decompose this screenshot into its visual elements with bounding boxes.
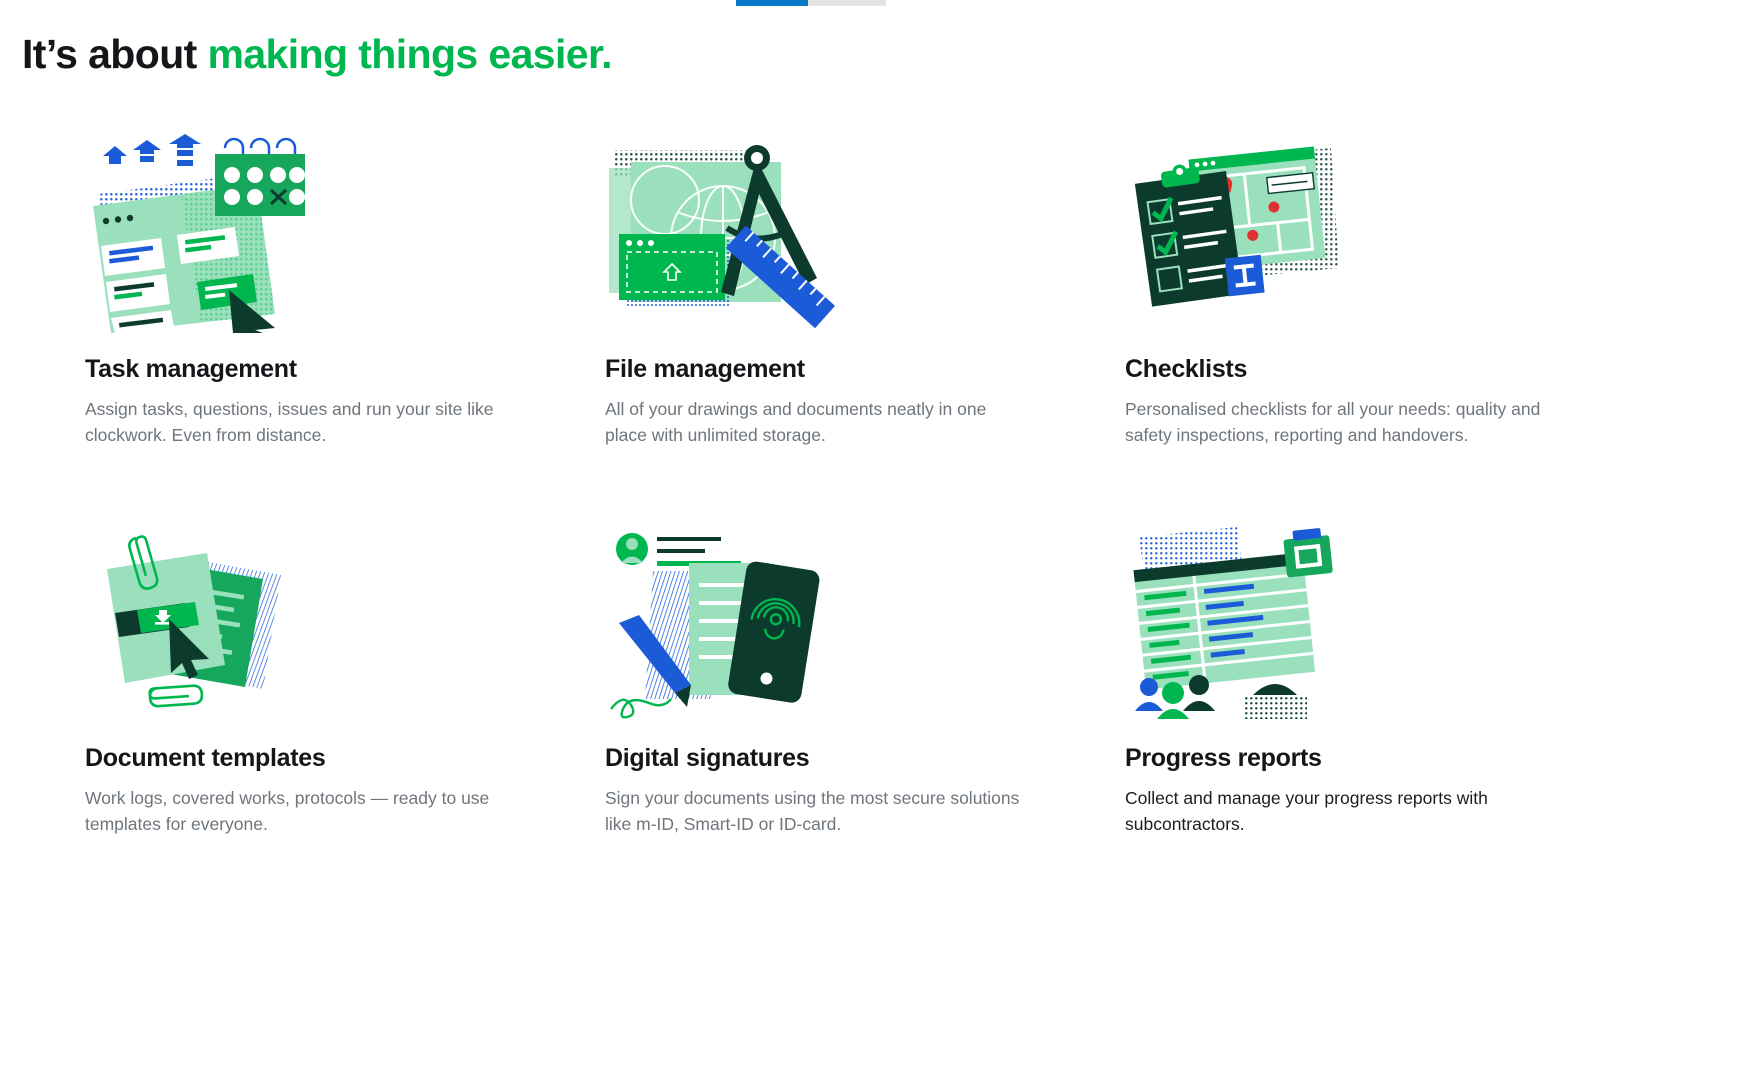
feature-title: Task management [85, 355, 545, 384]
feature-title: File management [605, 355, 1065, 384]
page-progress-fill [736, 0, 808, 6]
feature-card-checklists[interactable]: Checklists Personalised checklists for a… [1125, 118, 1585, 449]
feature-title: Digital signatures [605, 744, 1065, 773]
feature-description: Collect and manage your progress reports… [1125, 785, 1545, 838]
headline-lead: It’s about [22, 31, 208, 77]
documents-paperclip-illustration [85, 507, 545, 722]
feature-title: Progress reports [1125, 744, 1585, 773]
clipboard-floorplan-illustration [1125, 118, 1585, 333]
feature-card-digital-signatures[interactable]: Digital signatures Sign your documents u… [605, 507, 1065, 838]
feature-description: Personalised checklists for all your nee… [1125, 396, 1545, 449]
headline-accent: making things easier. [208, 31, 612, 77]
page-title: It’s about making things easier. [22, 29, 612, 80]
feature-card-progress-reports[interactable]: Progress reports Collect and manage your… [1125, 507, 1585, 838]
feature-title: Document templates [85, 744, 545, 773]
blueprint-compass-illustration [605, 118, 1065, 333]
signature-phone-illustration [605, 507, 1065, 722]
report-table-people-illustration [1125, 507, 1585, 722]
feature-description: Sign your documents using the most secur… [605, 785, 1025, 838]
feature-description: Assign tasks, questions, issues and run … [85, 396, 505, 449]
feature-card-document-templates[interactable]: Document templates Work logs, covered wo… [85, 507, 545, 838]
feature-card-task-management[interactable]: Task management Assign tasks, questions,… [85, 118, 545, 449]
feature-grid: Task management Assign tasks, questions,… [0, 118, 1745, 838]
page-progress-bar [736, 0, 886, 6]
feature-description: Work logs, covered works, protocols — re… [85, 785, 505, 838]
feature-title: Checklists [1125, 355, 1585, 384]
feature-card-file-management[interactable]: File management All of your drawings and… [605, 118, 1065, 449]
feature-description: All of your drawings and documents neatl… [605, 396, 1025, 449]
task-board-illustration [85, 118, 545, 333]
